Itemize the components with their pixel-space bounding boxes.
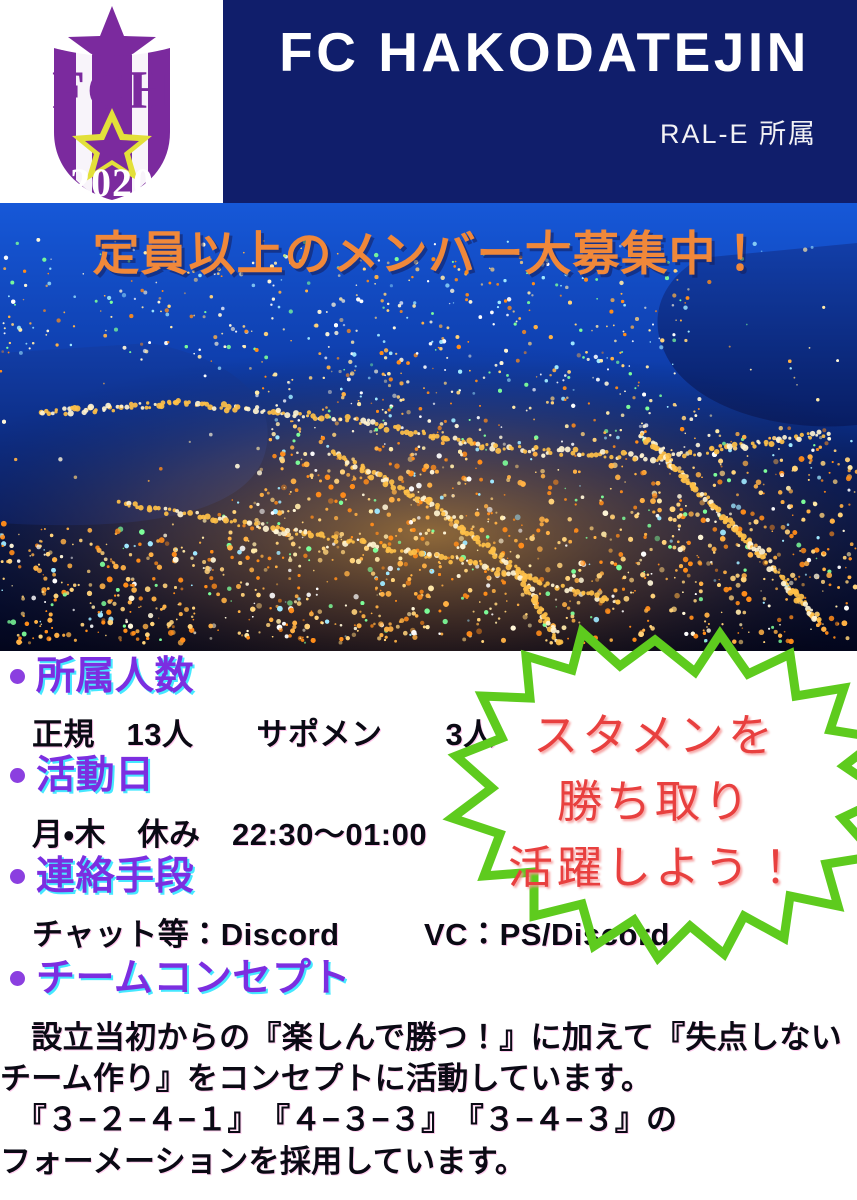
- section-body-members: 正規 13人 サポメン 3人: [32, 709, 495, 754]
- logo-panel: FCH 2020: [0, 0, 223, 203]
- league-affiliation: RAL-E 所属: [252, 112, 817, 151]
- concept-line-4: フォーメーションを採用しています。: [0, 1141, 857, 1182]
- svg-text:2020: 2020: [70, 160, 154, 200]
- concept-line-3: 『３−２−４−１』 『４−３−３』 『３−４−３』の: [0, 1099, 857, 1140]
- section-heading-contact: 連絡手段: [36, 857, 194, 896]
- bullet-dot-icon: [10, 768, 25, 783]
- section-heading-members: 所属人数: [36, 657, 194, 696]
- poster-header: FCH 2020 FC HAKODATEJIN RAL-E 所属: [0, 0, 857, 203]
- bullet-dot-icon: [10, 971, 25, 986]
- starburst-line-2: 勝ち取り: [557, 769, 753, 835]
- team-concept-paragraph: 設立当初からの『楽しんで勝つ！』に加えて『失点しない チーム作り』をコンセプトに…: [0, 1017, 857, 1182]
- starburst-text-block: スタメンを 勝ち取り 活躍しよう！: [452, 638, 857, 960]
- concept-line-2: チーム作り』をコンセプトに活動しています。: [0, 1058, 857, 1099]
- section-body-activity-days: 月・木 休み 22:30〜01:00: [32, 809, 427, 854]
- club-crest-icon: FCH 2020: [32, 4, 192, 200]
- concept-line-1: 設立当初からの『楽しんで勝つ！』に加えて『失点しない: [0, 1017, 857, 1058]
- section-contact: 連絡手段: [10, 857, 194, 896]
- club-name-title: FC HAKODATEJIN: [252, 24, 837, 82]
- section-activity-days: 活動日: [10, 756, 155, 795]
- section-body-contact-chat: チャット等：Discord: [32, 909, 340, 954]
- section-members: 所属人数: [10, 657, 194, 696]
- starburst-line-1: スタメンを: [533, 703, 777, 769]
- starburst-callout: スタメンを 勝ち取り 活躍しよう！: [452, 638, 857, 960]
- recruitment-headline: 定員以上のメンバー大募集中！: [0, 215, 857, 284]
- bullet-dot-icon: [10, 669, 25, 684]
- bullet-dot-icon: [10, 869, 25, 884]
- section-heading-activity-days: 活動日: [36, 756, 155, 795]
- poster: FCH 2020 FC HAKODATEJIN RAL-E 所属: [0, 0, 857, 1200]
- section-team-concept: チームコンセプト: [10, 959, 351, 998]
- starburst-line-3: 活躍しよう！: [508, 835, 802, 901]
- section-heading-team-concept: チームコンセプト: [36, 959, 351, 998]
